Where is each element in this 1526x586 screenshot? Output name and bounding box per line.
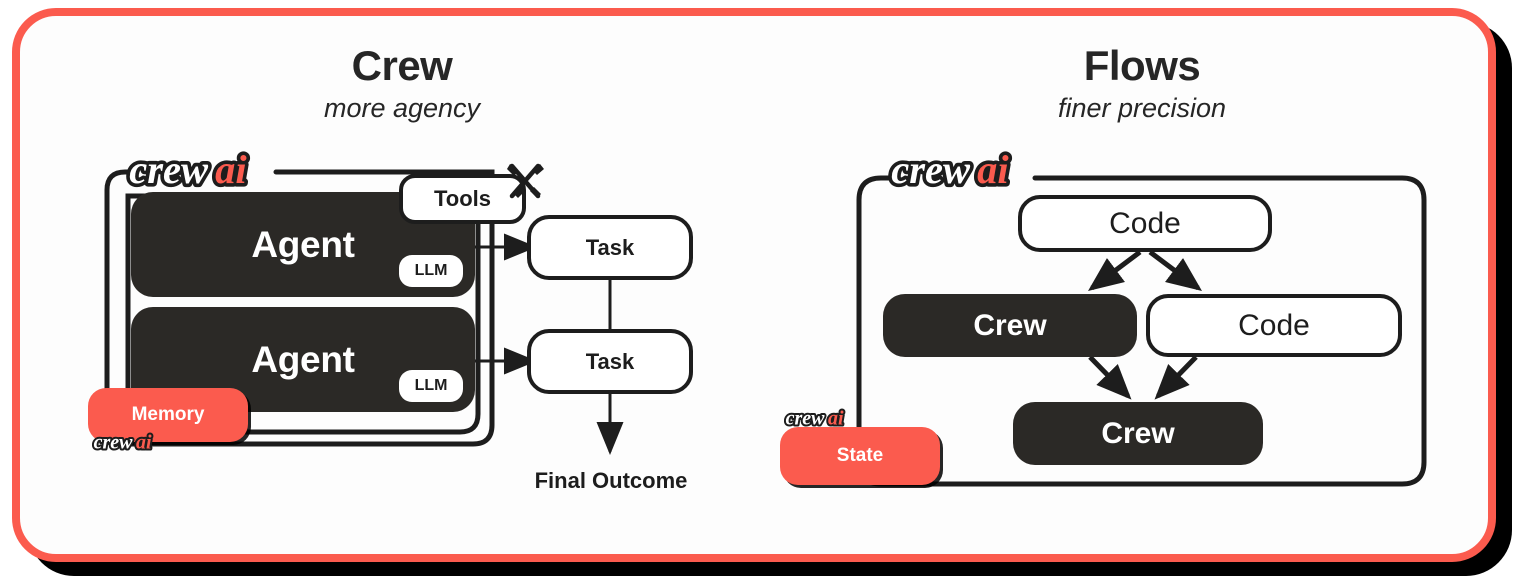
crewai-logo-ai-part-b: ai	[977, 147, 1009, 192]
state-label: State	[837, 445, 883, 467]
flows-subtitle: finer precision	[932, 94, 1352, 124]
crewai-logo-memory-badge: crew crew ai ai	[92, 428, 172, 455]
task-label-2: Task	[586, 349, 635, 375]
diagram-canvas: Crew more agency Flows finer precision	[0, 0, 1526, 586]
flows-title: Flows	[932, 44, 1352, 88]
crewai-logo-ai-part-d: ai	[828, 407, 844, 429]
state-badge[interactable]: State	[780, 427, 940, 485]
tools-wrench-screwdriver-icon	[504, 160, 548, 204]
llm-badge-2[interactable]: LLM	[399, 370, 463, 402]
memory-label: Memory	[132, 404, 205, 426]
final-outcome-label: Final Outcome	[530, 468, 692, 494]
flow-node-label-code-top: Code	[1109, 207, 1181, 241]
crewai-logo-flows-panel: crew crew ai ai	[888, 142, 1050, 196]
flow-node-label-crew-left: Crew	[973, 309, 1046, 343]
crew-column-heading: Crew more agency	[192, 44, 612, 124]
flow-node-label-code-right: Code	[1238, 309, 1310, 343]
crewai-logo-crew-part-b: crew	[891, 147, 971, 192]
flow-node-label-crew-bottom: Crew	[1101, 417, 1174, 451]
crewai-logo-crew-panel: crew crew ai ai	[126, 142, 288, 196]
llm-label-1: LLM	[415, 262, 448, 280]
crewai-logo-crew-part-c: crew	[94, 431, 134, 453]
crewai-logo-crew-part-a: crew	[129, 147, 209, 192]
tools-label: Tools	[434, 186, 491, 212]
task-box-1[interactable]: Task	[527, 215, 693, 280]
task-label-1: Task	[586, 235, 635, 261]
agent-label-1: Agent	[251, 224, 354, 266]
llm-badge-1[interactable]: LLM	[399, 255, 463, 287]
crew-subtitle: more agency	[192, 94, 612, 124]
flows-column-heading: Flows finer precision	[932, 44, 1352, 124]
crewai-logo-crew-part-d: crew	[786, 407, 826, 429]
flow-node-crew-bottom[interactable]: Crew	[1013, 402, 1263, 465]
crewai-logo-ai-part-a: ai	[215, 147, 247, 192]
crewai-logo-ai-part-c: ai	[136, 431, 152, 453]
llm-label-2: LLM	[415, 377, 448, 395]
flow-node-crew-left[interactable]: Crew	[883, 294, 1137, 357]
flow-node-code-top[interactable]: Code	[1018, 195, 1272, 252]
crew-title: Crew	[192, 44, 612, 88]
flow-node-code-right[interactable]: Code	[1146, 294, 1402, 357]
task-box-2[interactable]: Task	[527, 329, 693, 394]
crewai-logo-state-badge: crew crew ai ai	[784, 404, 864, 431]
agent-label-2: Agent	[251, 339, 354, 381]
